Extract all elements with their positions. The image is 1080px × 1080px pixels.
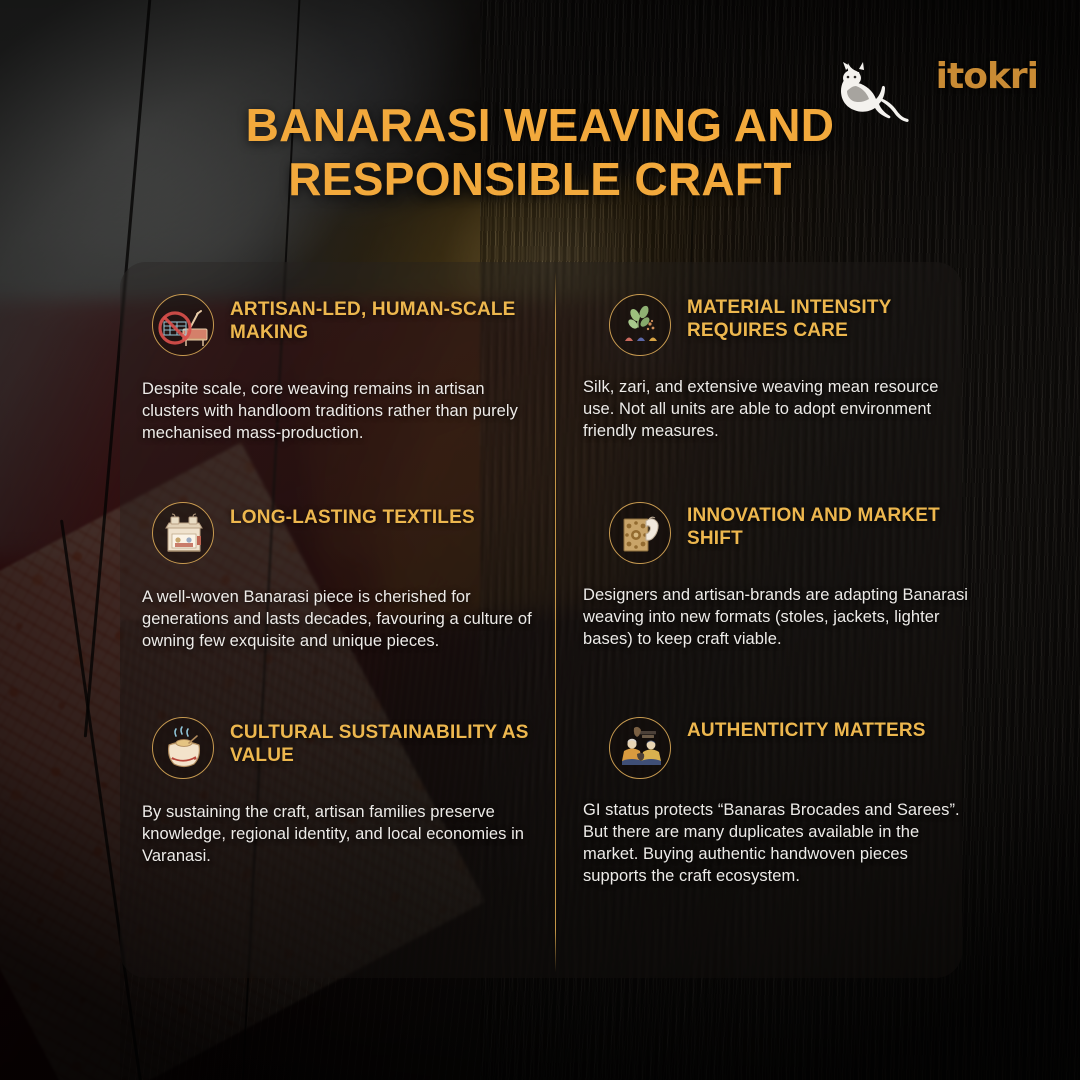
- card-innovation-market-shift: INNOVATION AND MARKET SHIFT Designers an…: [569, 500, 976, 715]
- card-title: AUTHENTICITY MATTERS: [687, 715, 926, 742]
- cards-grid: ARTISAN-LED, HUMAN-SCALE MAKING Despite …: [120, 262, 962, 978]
- content-panel: ARTISAN-LED, HUMAN-SCALE MAKING Despite …: [120, 262, 962, 978]
- card-header: ARTISAN-LED, HUMAN-SCALE MAKING: [152, 292, 551, 356]
- card-title: CULTURAL SUSTAINABILITY AS VALUE: [230, 715, 551, 767]
- card-cultural-sustainability: CULTURAL SUSTAINABILITY AS VALUE By sust…: [134, 715, 569, 955]
- page-title-line-1: BANARASI WEAVING AND: [140, 98, 940, 152]
- cat-logo-icon: [824, 56, 916, 134]
- card-header: AUTHENTICITY MATTERS: [609, 715, 970, 779]
- hand-holding-fabric-icon: [609, 502, 671, 564]
- card-title: INNOVATION AND MARKET SHIFT: [687, 500, 970, 550]
- card-body: A well-woven Banarasi piece is cherished…: [142, 586, 542, 652]
- page-title-line-2: RESPONSIBLE CRAFT: [140, 152, 940, 206]
- card-authenticity-matters: AUTHENTICITY MATTERS GI status protects …: [569, 715, 976, 955]
- card-body: GI status protects “Banaras Brocades and…: [583, 799, 970, 887]
- card-title: ARTISAN-LED, HUMAN-SCALE MAKING: [230, 292, 551, 344]
- card-body: Despite scale, core weaving remains in a…: [142, 378, 542, 444]
- card-header: CULTURAL SUSTAINABILITY AS VALUE: [152, 715, 551, 779]
- storefront-shop-icon: [152, 502, 214, 564]
- two-artisans-seated-icon: [609, 717, 671, 779]
- brand-logo[interactable]: itokri: [846, 36, 1046, 146]
- card-title: MATERIAL INTENSITY REQUIRES CARE: [687, 292, 970, 342]
- header: BANARASI WEAVING AND RESPONSIBLE CRAFT i…: [0, 0, 1080, 240]
- plant-sprout-dyes-icon: [609, 294, 671, 356]
- card-artisan-led: ARTISAN-LED, HUMAN-SCALE MAKING Despite …: [134, 292, 569, 500]
- card-body: By sustaining the craft, artisan familie…: [142, 801, 542, 867]
- no-machine-loom-icon: [152, 294, 214, 356]
- brand-name: itokri: [936, 56, 1038, 97]
- card-header: INNOVATION AND MARKET SHIFT: [609, 500, 970, 564]
- card-material-intensity: MATERIAL INTENSITY REQUIRES CARE Silk, z…: [569, 292, 976, 500]
- page-title: BANARASI WEAVING AND RESPONSIBLE CRAFT: [140, 98, 940, 207]
- card-body: Silk, zari, and extensive weaving mean r…: [583, 376, 970, 442]
- card-long-lasting-textiles: LONG-LASTING TEXTILES A well-woven Banar…: [134, 500, 569, 715]
- card-body: Designers and artisan-brands are adaptin…: [583, 584, 970, 650]
- card-header: MATERIAL INTENSITY REQUIRES CARE: [609, 292, 970, 356]
- card-title: LONG-LASTING TEXTILES: [230, 500, 475, 529]
- steaming-pot-icon: [152, 717, 214, 779]
- card-header: LONG-LASTING TEXTILES: [152, 500, 551, 564]
